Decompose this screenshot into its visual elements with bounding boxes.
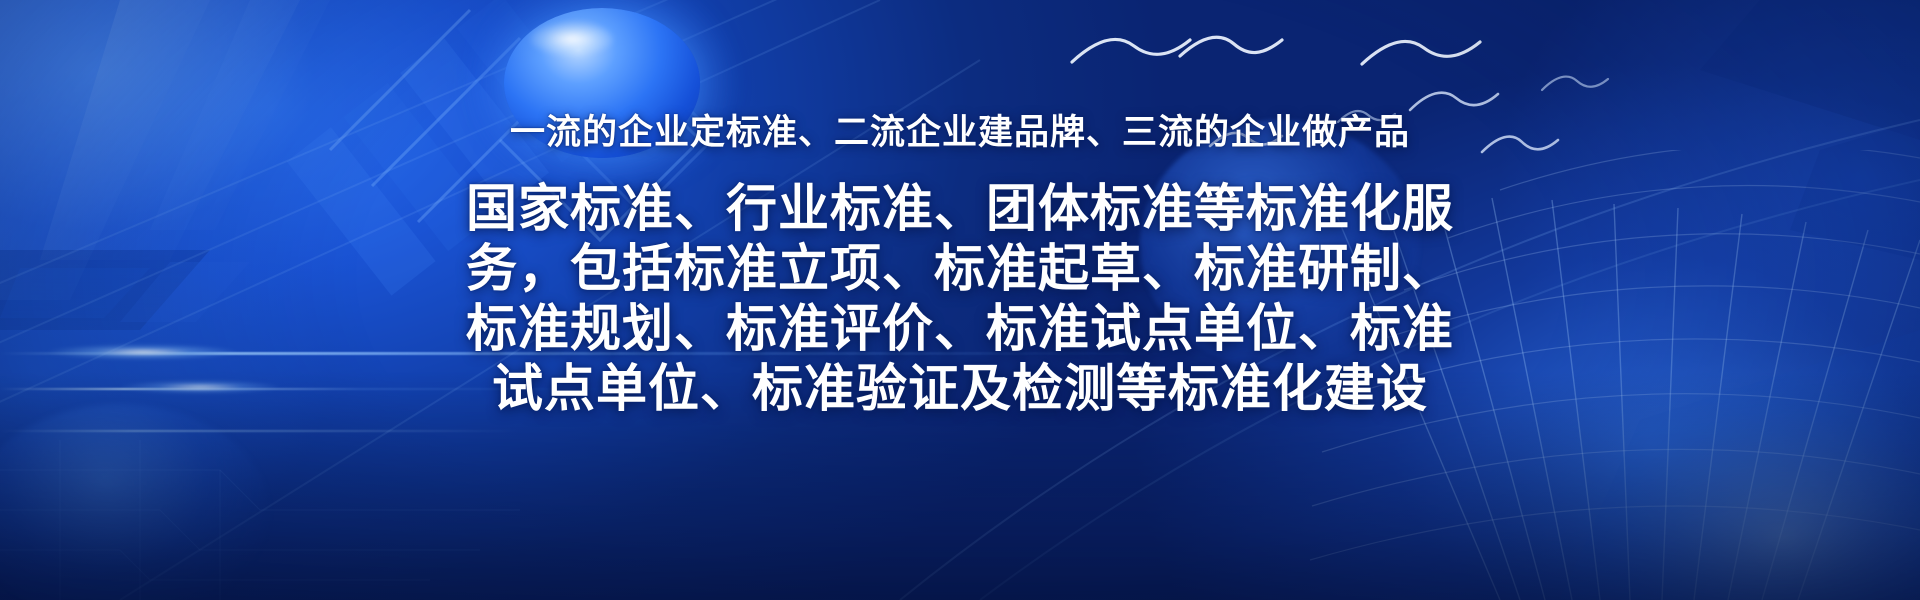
standardization-service-banner: 一流的企业定标准、二流企业建品牌、三流的企业做产品 国家标准、行业标准、团体标准…	[0, 0, 1920, 600]
banner-body-line-4: 试点单位、标准验证及检测等标准化建设	[430, 359, 1490, 419]
banner-body: 国家标准、行业标准、团体标准等标准化服 务，包括标准立项、标准起草、标准研制、 …	[430, 179, 1490, 419]
banner-text-stack: 一流的企业定标准、二流企业建品牌、三流的企业做产品 国家标准、行业标准、团体标准…	[0, 0, 1920, 600]
banner-body-line-3: 标准规划、标准评价、标准试点单位、标准	[430, 299, 1490, 359]
banner-body-line-2: 务，包括标准立项、标准起草、标准研制、	[430, 239, 1490, 299]
banner-headline: 一流的企业定标准、二流企业建品牌、三流的企业做产品	[510, 114, 1410, 153]
banner-body-line-1: 国家标准、行业标准、团体标准等标准化服	[430, 179, 1490, 239]
